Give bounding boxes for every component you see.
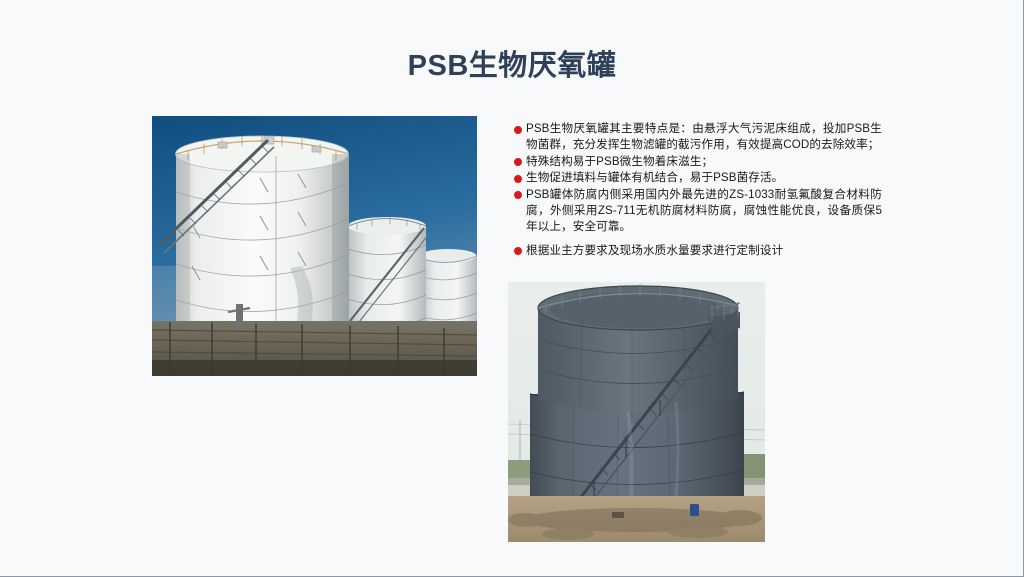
feature-bullet-list: PSB生物厌氧罐其主要特点是：由悬浮大气污泥床组成，投加PSB生物菌群，充分发挥… bbox=[514, 121, 882, 259]
list-item: PSB生物厌氧罐其主要特点是：由悬浮大气污泥床组成，投加PSB生物菌群，充分发挥… bbox=[514, 121, 882, 154]
list-item-text: PSB生物厌氧罐其主要特点是：由悬浮大气污泥床组成，投加PSB生物菌群，充分发挥… bbox=[526, 121, 882, 154]
list-item-text: 生物促进填料与罐体有机结合，易于PSB菌存活。 bbox=[526, 170, 882, 186]
image-white-tank-farm bbox=[152, 116, 477, 376]
red-bullet-icon bbox=[514, 191, 522, 199]
red-bullet-icon bbox=[514, 247, 522, 255]
presentation-slide: PSB生物厌氧罐 bbox=[0, 0, 1024, 577]
list-item-text: 根据业主方要求及现场水质水量要求进行定制设计 bbox=[526, 243, 882, 259]
page-title: PSB生物厌氧罐 bbox=[0, 42, 1024, 84]
dark-anaerobic-tank-illustration bbox=[508, 282, 765, 542]
red-bullet-icon bbox=[514, 126, 522, 134]
list-item-text: 特殊结构易于PSB微生物着床滋生； bbox=[526, 154, 882, 170]
list-item: 生物促进填料与罐体有机结合，易于PSB菌存活。 bbox=[514, 170, 882, 186]
list-item: 特殊结构易于PSB微生物着床滋生； bbox=[514, 154, 882, 170]
list-item-text: PSB罐体防腐内侧采用国内外最先进的ZS-1033耐氢氟酸复合材料防腐，外侧采用… bbox=[526, 187, 882, 236]
white-tank-farm-illustration bbox=[152, 116, 477, 376]
list-item: 根据业主方要求及现场水质水量要求进行定制设计 bbox=[514, 243, 882, 259]
image-dark-anaerobic-tank bbox=[508, 282, 765, 542]
red-bullet-icon bbox=[514, 158, 522, 166]
list-item: PSB罐体防腐内侧采用国内外最先进的ZS-1033耐氢氟酸复合材料防腐，外侧采用… bbox=[514, 187, 882, 236]
red-bullet-icon bbox=[514, 175, 522, 183]
